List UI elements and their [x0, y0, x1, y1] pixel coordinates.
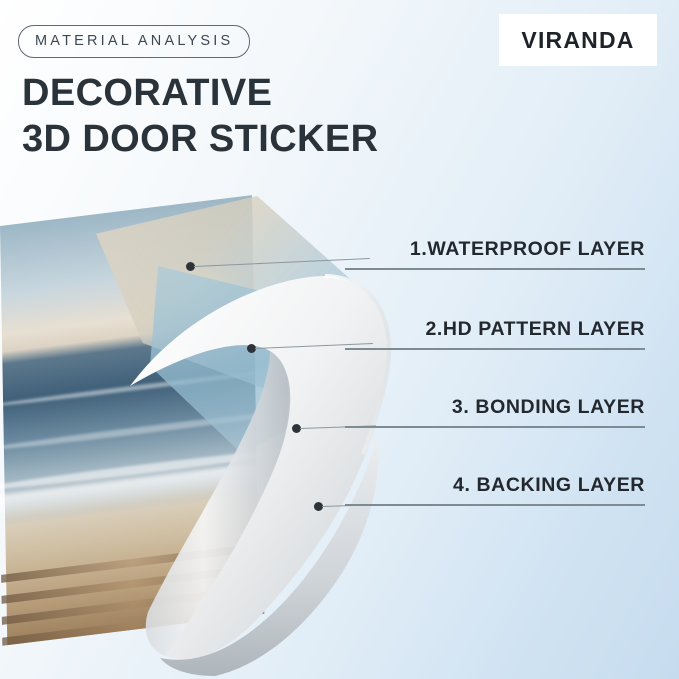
callout-label-1: 1.WATERPROOF LAYER: [345, 238, 645, 268]
callout-label-3: 3. BONDING LAYER: [345, 396, 645, 426]
callout-layer-1: 1.WATERPROOF LAYER: [345, 238, 645, 270]
poster-canvas: MATERIAL ANALYSIS DECORATIVE 3D DOOR STI…: [0, 0, 679, 679]
callout-rule-4: [345, 504, 645, 506]
brand-name: VIRANDA: [521, 27, 634, 54]
brand-logo-box: VIRANDA: [499, 14, 657, 66]
peel-curl-body: [120, 246, 440, 676]
callout-layer-4: 4. BACKING LAYER: [345, 474, 645, 506]
callout-layer-3: 3. BONDING LAYER: [345, 396, 645, 428]
page-title-line-2: 3D DOOR STICKER: [22, 118, 378, 161]
callout-label-4: 4. BACKING LAYER: [345, 474, 645, 504]
eyebrow-badge: MATERIAL ANALYSIS: [18, 25, 250, 58]
page-title-line-1: DECORATIVE: [22, 72, 272, 115]
callout-rule-1: [345, 268, 645, 270]
callout-rule-3: [345, 426, 645, 428]
callout-rule-2: [345, 348, 645, 350]
callout-label-2: 2.HD PATTERN LAYER: [345, 318, 645, 348]
callout-layer-2: 2.HD PATTERN LAYER: [345, 318, 645, 350]
